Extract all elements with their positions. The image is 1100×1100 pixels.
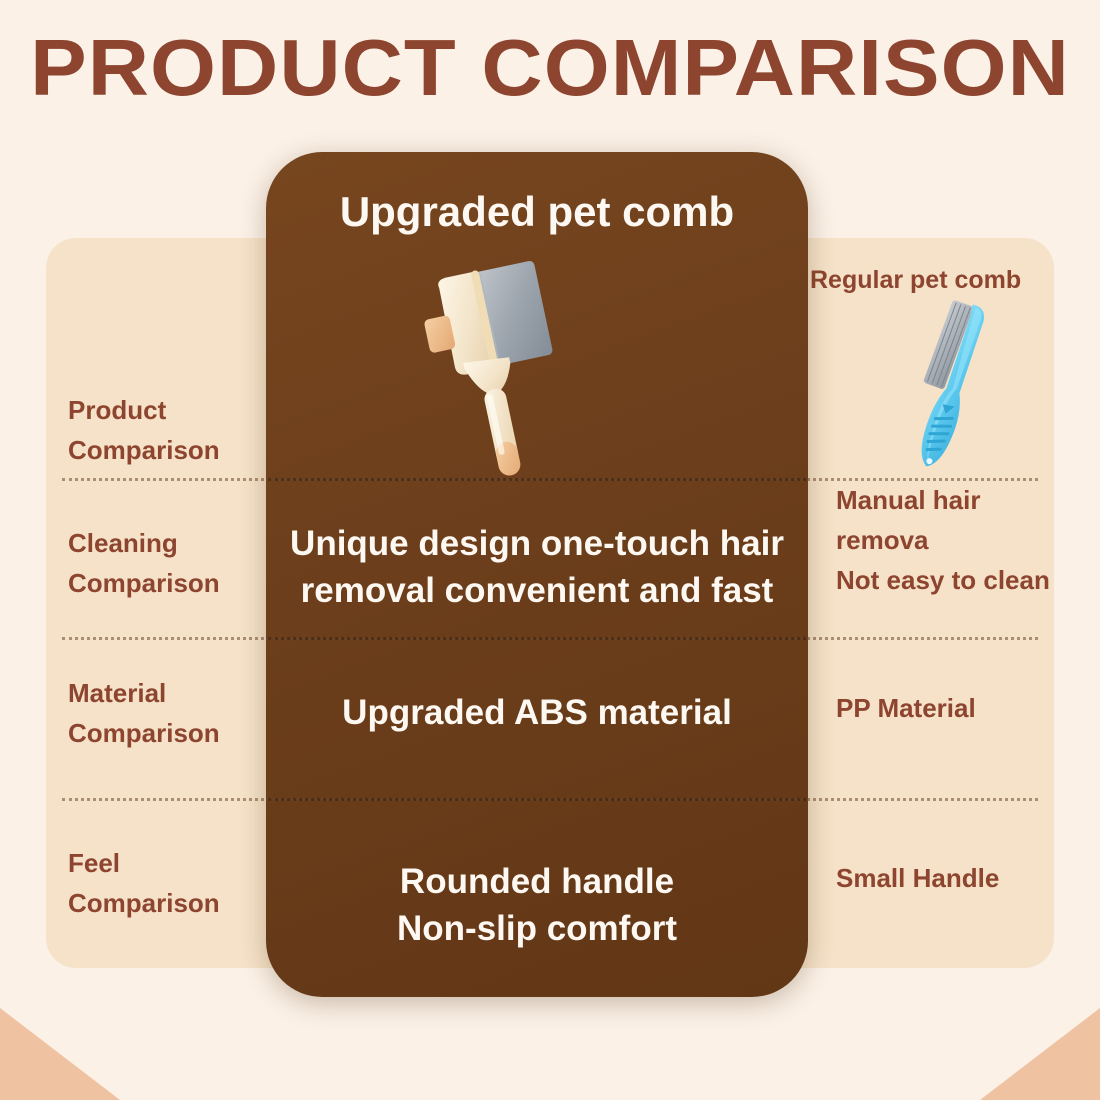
row-divider-card-3 (268, 798, 806, 801)
upgraded-cleaning-text: Unique design one-touch hair removal con… (286, 520, 788, 614)
regular-comb-heading: Regular pet comb (810, 264, 1054, 296)
upgraded-pet-comb-image (410, 250, 640, 480)
infographic-page: PRODUCT COMPARISON ProductComparison Cle… (0, 0, 1100, 1100)
corner-triangle-bottom-right (980, 1008, 1100, 1100)
criterion-label-material: MaterialComparison (68, 673, 264, 753)
upgraded-feel-text: Rounded handleNon-slip comfort (286, 858, 788, 952)
criterion-label-cleaning: CleaningComparison (68, 523, 264, 603)
regular-feel-text: Small Handle (836, 858, 1054, 898)
row-divider-card-2 (268, 637, 806, 640)
page-title: PRODUCT COMPARISON (0, 22, 1100, 114)
regular-pet-comb-image (876, 296, 1036, 486)
regular-cleaning-text: Manual hair removaNot easy to clean (836, 480, 1054, 600)
criteria-column: ProductComparison CleaningComparison Mat… (68, 238, 264, 968)
upgraded-comb-heading: Upgraded pet comb (266, 184, 808, 240)
criterion-label-product: ProductComparison (68, 390, 264, 470)
regular-material-text: PP Material (836, 688, 1054, 728)
criterion-label-feel: FeelComparison (68, 843, 264, 923)
upgraded-material-text: Upgraded ABS material (286, 689, 788, 736)
corner-triangle-bottom-left (0, 1008, 120, 1100)
